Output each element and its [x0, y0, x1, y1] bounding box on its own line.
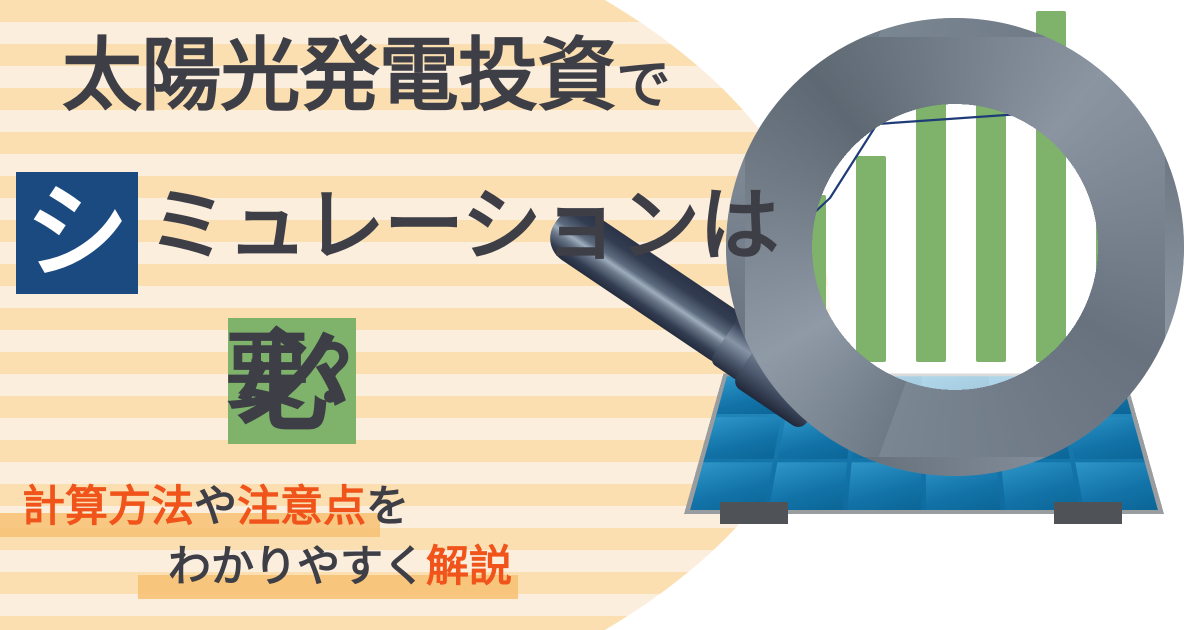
- headline-line-1-main: 太陽光発電投資: [62, 31, 616, 120]
- headline-line-1-suffix: で: [616, 55, 669, 115]
- magnifier-lens-ring: [726, 18, 1184, 476]
- boxed-character-shi: シ: [16, 172, 138, 294]
- subcopy-b-keyword: 解説: [426, 543, 512, 591]
- subcopy-a-particle-1: や: [194, 483, 237, 531]
- subcopy-b-text: わかりやすく: [168, 543, 426, 591]
- solar-panel-foot-left: [720, 502, 788, 524]
- headline-line-3-main: 要: [225, 325, 308, 419]
- headline-line-2: ミュレーションは: [148, 186, 778, 266]
- headline-line-3: 要？: [225, 330, 387, 414]
- boxed-character-shi-glyph: シ: [16, 172, 138, 294]
- subcopy-line-b: わかりやすく解説: [168, 546, 512, 589]
- subcopy-a-particle-2: を: [366, 483, 409, 531]
- thumbnail-canvas: 太陽光発電投資で シ ミュレーションは 必 要？ 計算方法や注意点を わかりやす…: [0, 0, 1200, 630]
- subcopy-a-keyword-1: 計算方法: [22, 483, 194, 531]
- subcopy-line-a: 計算方法や注意点を: [22, 486, 409, 529]
- solar-cell: [704, 417, 781, 459]
- solar-panel-foot-right: [1054, 502, 1122, 524]
- headline-line-1: 太陽光発電投資で: [62, 36, 670, 116]
- subcopy-a-keyword-2: 注意点: [237, 483, 366, 531]
- headline-question-mark: ？: [308, 333, 387, 418]
